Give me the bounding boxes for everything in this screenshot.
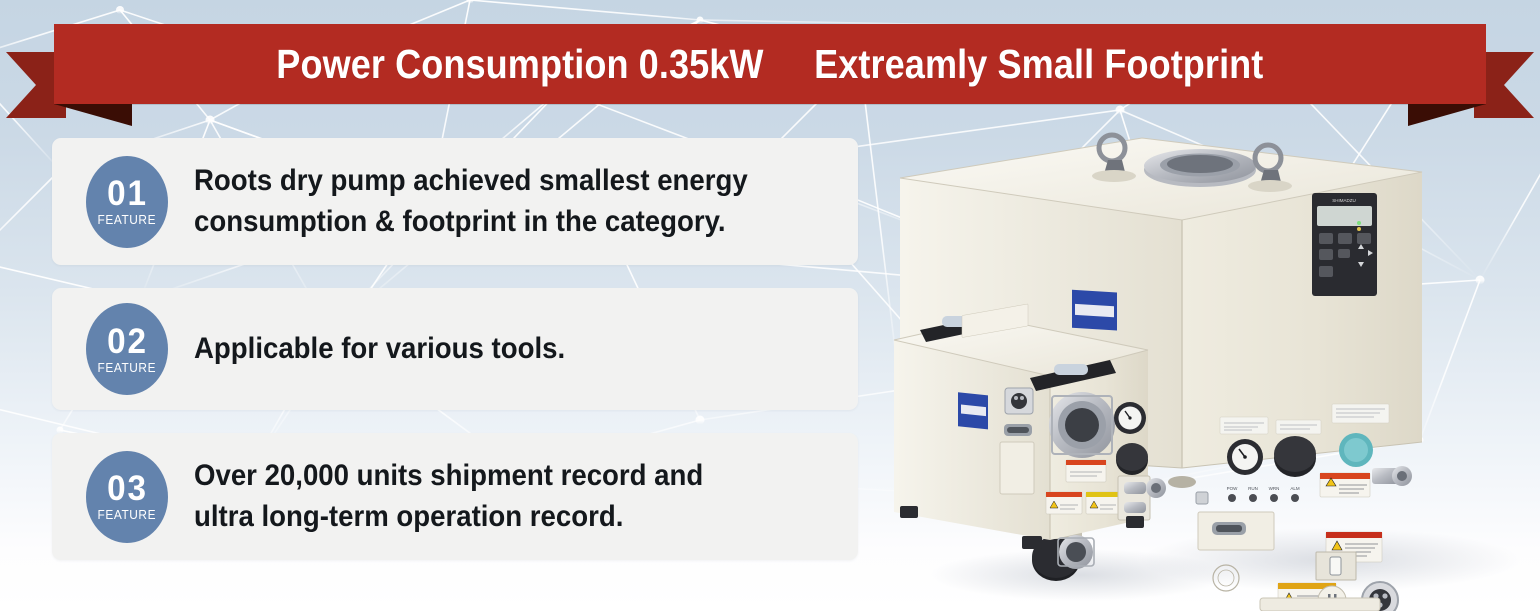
banner-title: Power Consumption 0.35kW Extreamly Small… — [276, 44, 1263, 85]
feature-card-03: 03 FEATURE Over 20,000 units shipment re… — [52, 433, 858, 560]
feature-number: 03 — [107, 471, 148, 506]
feature-card-02: 02 FEATURE Applicable for various tools. — [52, 288, 858, 410]
feature-text-02: Applicable for various tools. — [194, 329, 565, 370]
feature-list: 01 FEATURE Roots dry pump achieved small… — [52, 138, 858, 560]
poster-stage: Power Consumption 0.35kW Extreamly Small… — [0, 0, 1540, 611]
feature-badge-label: FEATURE — [98, 214, 157, 227]
feature-number: 02 — [107, 324, 148, 359]
small-pump-model-label — [958, 392, 988, 429]
feature-number: 01 — [107, 176, 148, 211]
svg-text:ALM: ALM — [1290, 486, 1300, 491]
headline-ribbon-banner: Power Consumption 0.35kW Extreamly Small… — [0, 24, 1540, 118]
product-photo-vacuum-pumps: SHIMADZU — [880, 120, 1540, 611]
feature-badge-label: FEATURE — [98, 362, 157, 375]
feature-badge-02: 02 FEATURE — [86, 303, 168, 395]
feature-badge-01: 01 FEATURE — [86, 156, 168, 248]
feature-card-01: 01 FEATURE Roots dry pump achieved small… — [52, 138, 858, 265]
feature-badge-03: 03 FEATURE — [86, 451, 168, 543]
large-pump-model-label — [1072, 290, 1117, 331]
svg-text:WRN: WRN — [1269, 486, 1280, 491]
svg-text:RUN: RUN — [1248, 486, 1258, 491]
warning-label-1 — [1320, 473, 1370, 497]
ribbon-fold-left — [54, 104, 132, 126]
ribbon-body: Power Consumption 0.35kW Extreamly Small… — [54, 24, 1486, 104]
feature-badge-label: FEATURE — [98, 509, 157, 522]
svg-text:POW: POW — [1227, 486, 1239, 491]
feature-text-01: Roots dry pump achieved smallest energy … — [194, 161, 748, 243]
feature-text-03: Over 20,000 units shipment record and ul… — [194, 456, 703, 538]
svg-text:SHIMADZU: SHIMADZU — [1332, 198, 1356, 203]
